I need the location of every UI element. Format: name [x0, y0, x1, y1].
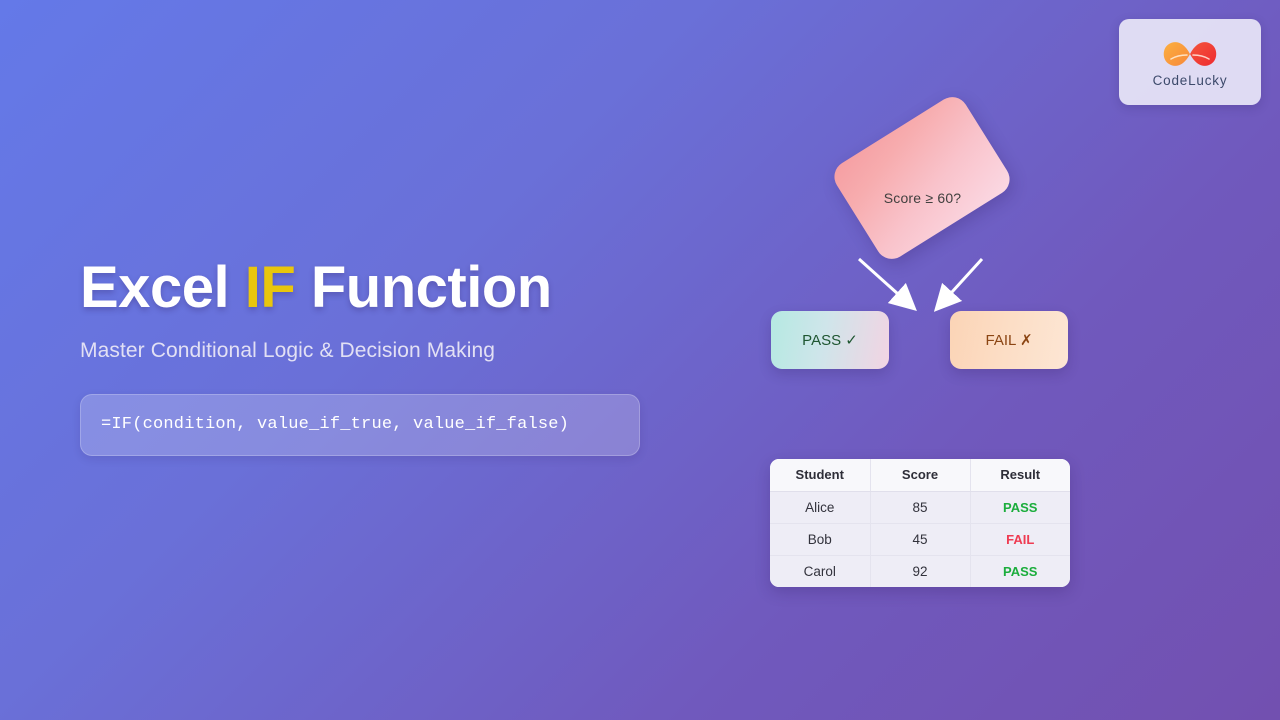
cell-score: 45: [870, 524, 970, 556]
cell-student: Bob: [770, 524, 870, 556]
codelucky-logo-badge: CodeLucky: [1119, 19, 1261, 105]
page-title: Excel IF Function: [80, 258, 680, 319]
outcome-pass-label: PASS ✓: [802, 331, 858, 349]
column-header-score: Score: [870, 459, 970, 492]
outcome-fail-node: FAIL ✗: [950, 311, 1068, 369]
results-table-container: Student Score Result Alice 85 PASS Bob 4…: [770, 459, 1070, 587]
arrow-true-branch: [859, 259, 908, 303]
cell-student: Carol: [770, 556, 870, 588]
results-table: Student Score Result Alice 85 PASS Bob 4…: [770, 459, 1070, 587]
cell-result: PASS: [970, 556, 1070, 588]
title-part-two: Function: [311, 255, 552, 320]
table-row: Alice 85 PASS: [770, 492, 1070, 524]
decision-flow-diagram: Score ≥ 60? PASS ✓ FAIL ✗: [760, 115, 1090, 385]
formula-box: =IF(condition, value_if_true, value_if_f…: [80, 394, 640, 456]
arrow-false-branch: [942, 259, 982, 303]
cell-score: 92: [870, 556, 970, 588]
formula-text: =IF(condition, value_if_true, value_if_f…: [101, 415, 569, 434]
title-keyword: IF: [245, 255, 296, 320]
outcome-fail-label: FAIL ✗: [985, 331, 1032, 349]
page-subtitle: Master Conditional Logic & Decision Maki…: [80, 339, 680, 363]
cell-student: Alice: [770, 492, 870, 524]
cell-result: PASS: [970, 492, 1070, 524]
title-part-one: Excel: [80, 255, 229, 320]
hero-section: Excel IF Function Master Conditional Log…: [80, 258, 680, 456]
outcome-pass-node: PASS ✓: [771, 311, 889, 369]
table-header-row: Student Score Result: [770, 459, 1070, 492]
table-row: Bob 45 FAIL: [770, 524, 1070, 556]
logo-text: CodeLucky: [1153, 73, 1228, 88]
table-row: Carol 92 PASS: [770, 556, 1070, 588]
cell-score: 85: [870, 492, 970, 524]
infinity-leaf-logo-icon: [1158, 37, 1222, 71]
cell-result: FAIL: [970, 524, 1070, 556]
column-header-result: Result: [970, 459, 1070, 492]
column-header-student: Student: [770, 459, 870, 492]
